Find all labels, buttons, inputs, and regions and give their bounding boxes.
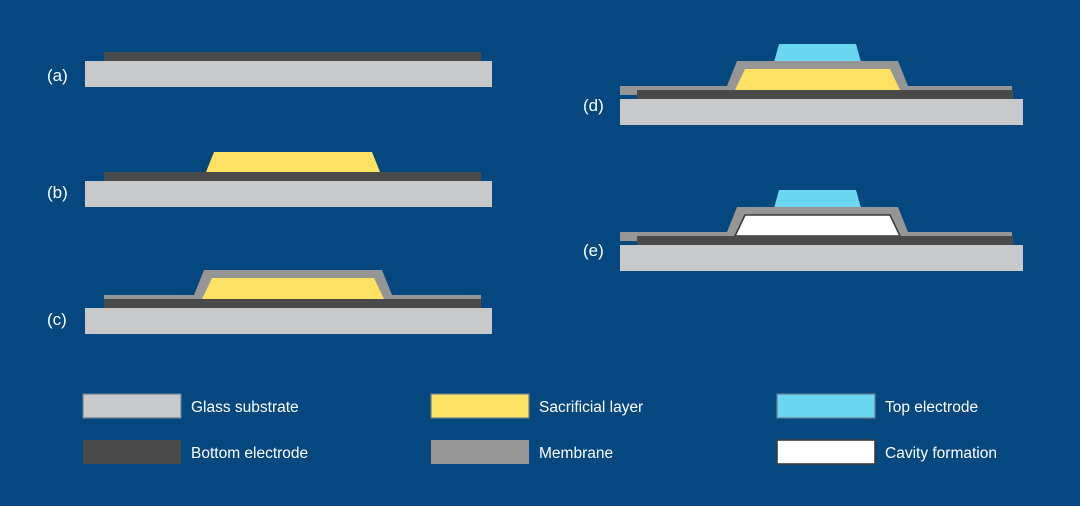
legend-label-sacrificial-layer: Sacrificial layer [539, 399, 643, 416]
panel-d-label: (d) [583, 96, 604, 115]
legend-swatch-sacrificial-layer [431, 394, 529, 418]
panel-c-sacrificial-layer [202, 278, 384, 299]
panel-d-bottom-electrode [637, 90, 1013, 99]
panel-b-bottom-electrode [104, 172, 481, 181]
panel-c-bottom-electrode [104, 299, 481, 308]
process-flow-diagram: (a) (b) (c) (d) [0, 0, 1080, 506]
panel-d-glass-substrate [620, 99, 1023, 125]
legend-label-top-electrode: Top electrode [885, 399, 978, 416]
legend-swatch-membrane [431, 440, 529, 464]
legend-label-membrane: Membrane [539, 445, 613, 462]
legend-swatch-cavity-formation [777, 440, 875, 464]
panel-b-label: (b) [47, 183, 68, 202]
panel-e-top-electrode [774, 190, 861, 208]
panel-c-label: (c) [47, 310, 67, 329]
panel-e-bottom-electrode [637, 236, 1013, 245]
legend-swatch-bottom-electrode [83, 440, 181, 464]
legend-label-glass-substrate: Glass substrate [191, 399, 299, 416]
legend-swatch-top-electrode [777, 394, 875, 418]
panel-b-glass-substrate [85, 181, 492, 207]
legend-swatch-glass-substrate [83, 394, 181, 418]
legend-label-bottom-electrode: Bottom electrode [191, 445, 308, 462]
panel-a-label: (a) [47, 66, 68, 85]
panel-a-glass-substrate [85, 61, 492, 87]
panel-e-label: (e) [583, 241, 604, 260]
panel-a: (a) [47, 52, 492, 87]
panel-d-sacrificial-layer [735, 69, 900, 90]
panel-c-glass-substrate [85, 308, 492, 334]
panel-e-glass-substrate [620, 245, 1023, 271]
panel-a-bottom-electrode [104, 52, 481, 61]
legend-label-cavity-formation: Cavity formation [885, 445, 997, 462]
panel-e-cavity-formation [735, 215, 900, 236]
panel-d-top-electrode [774, 44, 861, 62]
